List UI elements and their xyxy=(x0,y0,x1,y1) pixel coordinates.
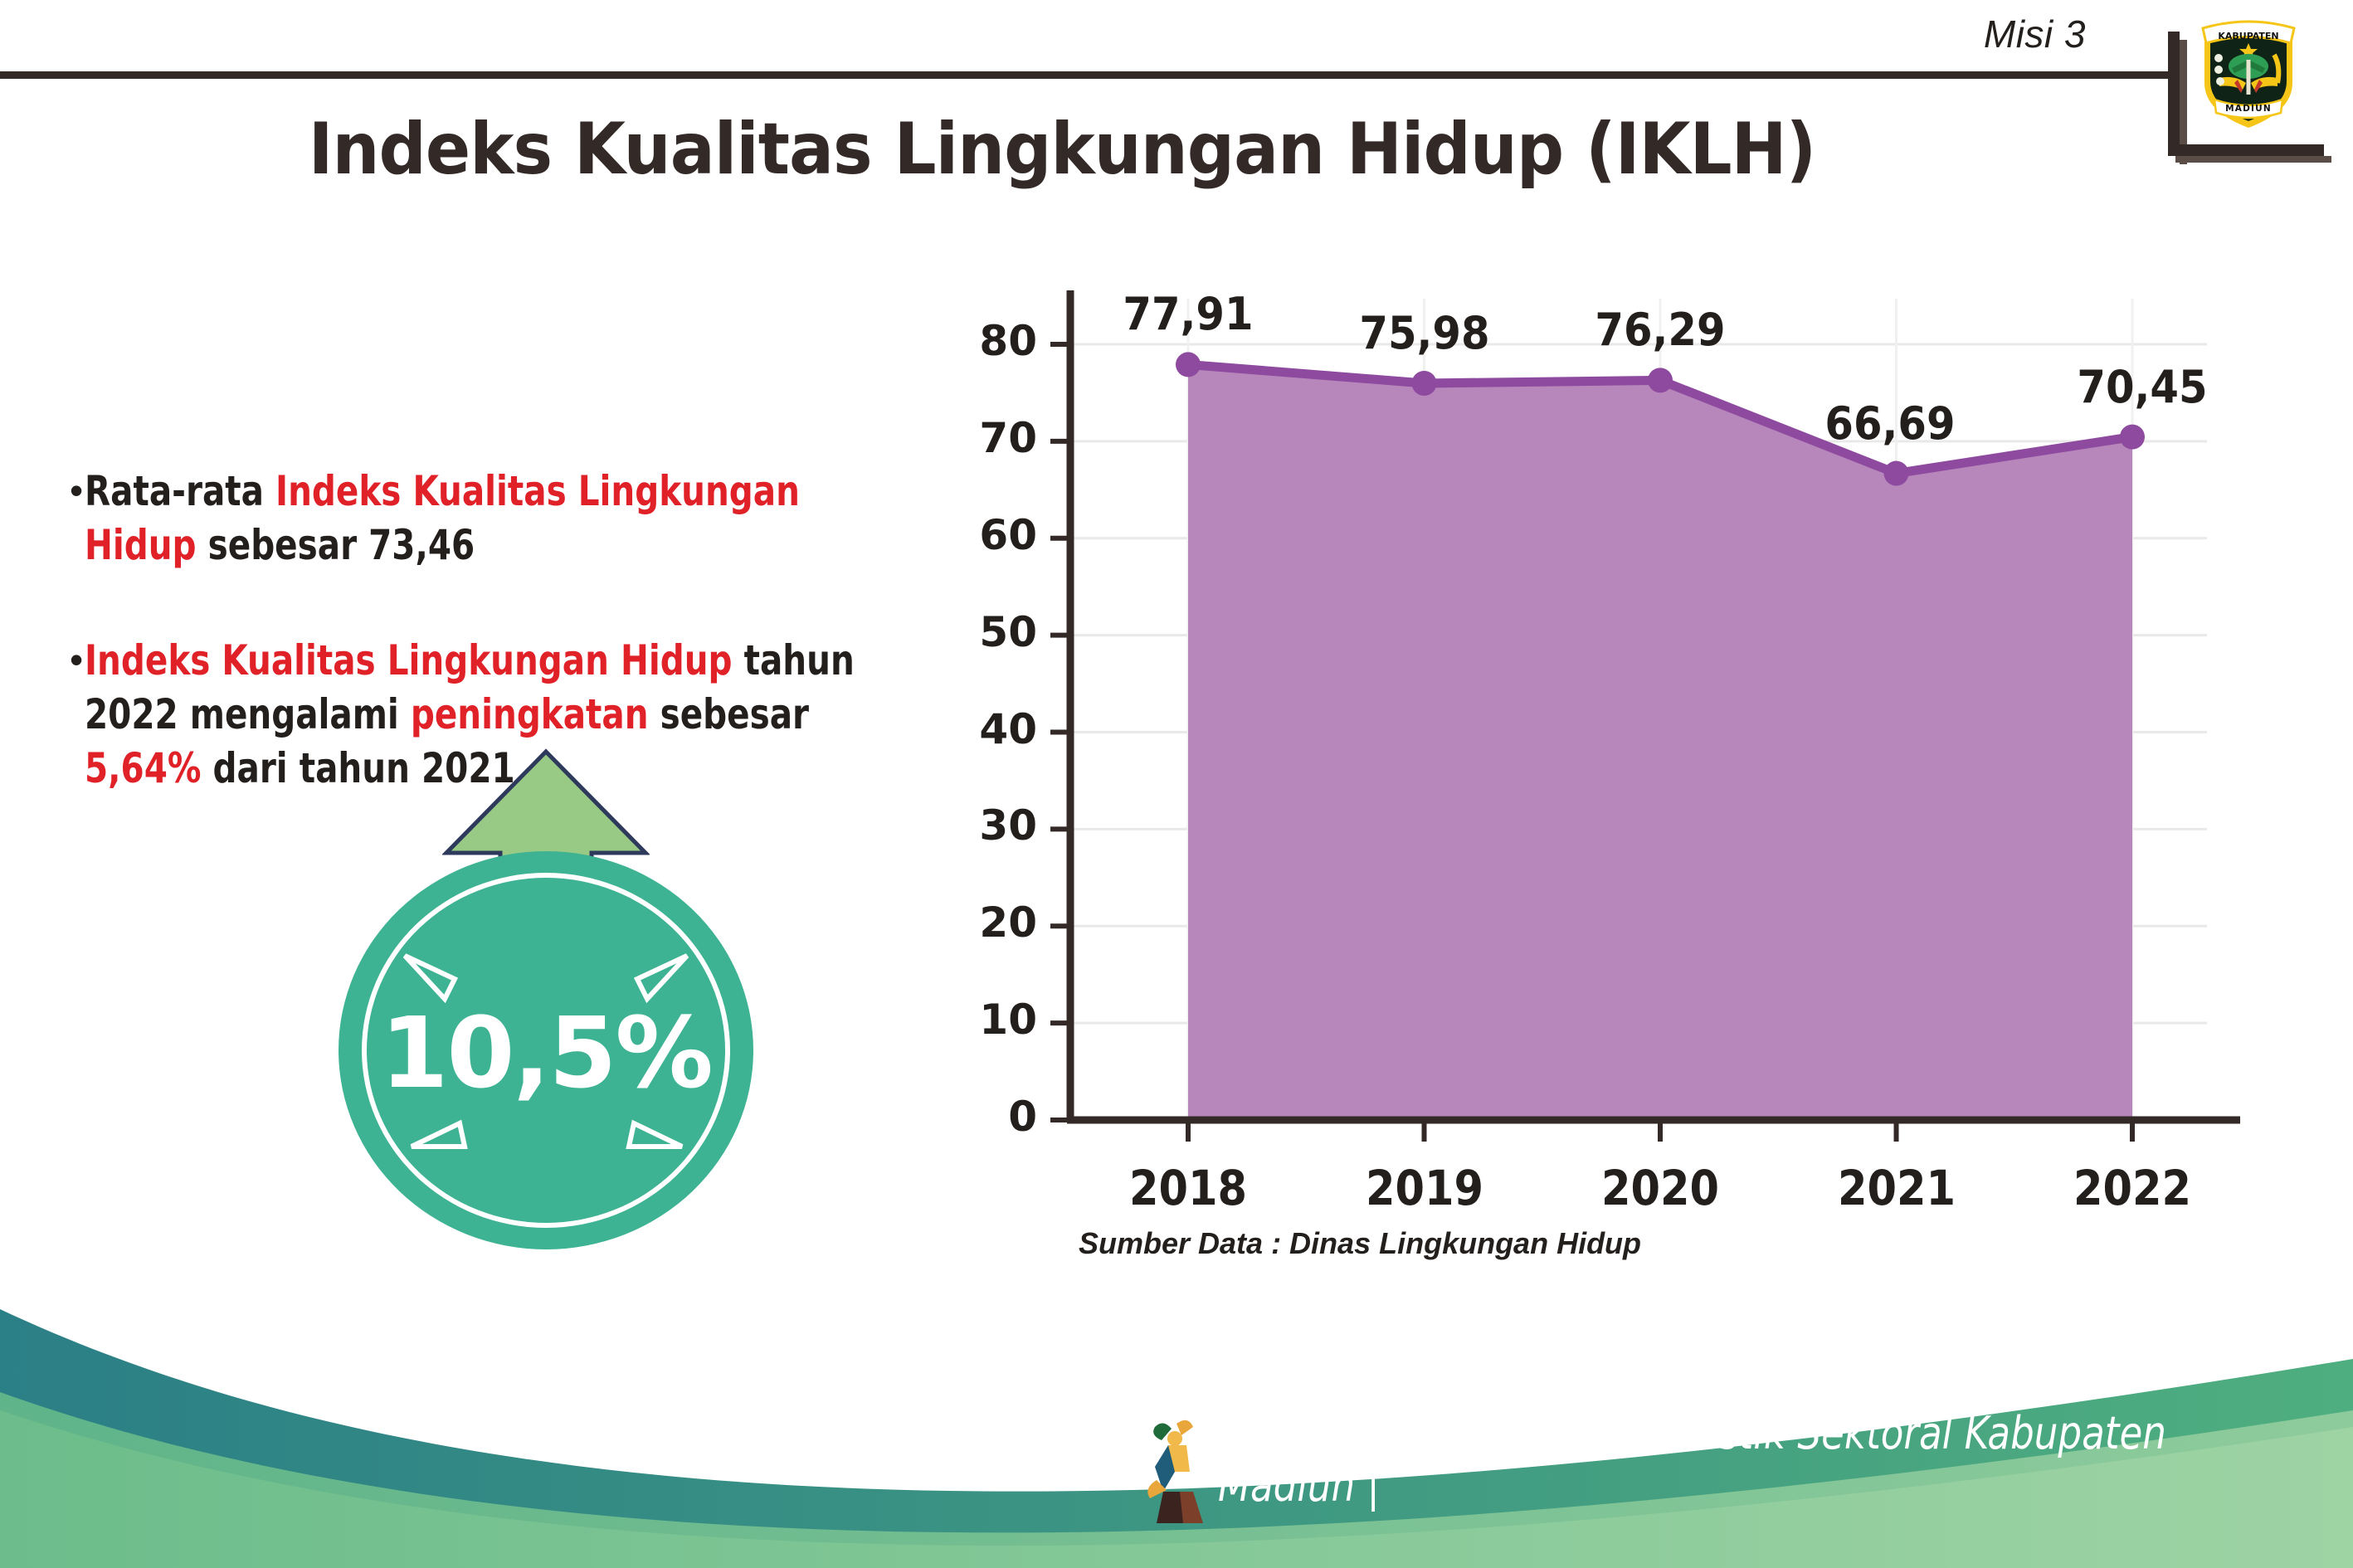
chart-data-label: 77,91 xyxy=(1097,288,1280,340)
svg-text:KABUPATEN: KABUPATEN xyxy=(2218,31,2278,41)
bracket-horizontal-bar xyxy=(2168,144,2324,156)
bullet-plain: sebesar xyxy=(649,690,809,738)
bullet-marker-icon: • xyxy=(70,634,83,685)
x-axis-label: 2021 xyxy=(1801,1160,1991,1216)
y-axis-label: 60 xyxy=(946,511,1037,559)
bullet-highlight: Indeks Kualitas Lingkungan Hidup xyxy=(85,636,733,684)
svg-text:MADIUN: MADIUN xyxy=(2225,104,2272,114)
header-divider-rule xyxy=(0,71,2169,79)
source-note: Sumber Data : Dinas Lingkungan Hidup xyxy=(1079,1226,1641,1261)
misi-label: Misi 3 xyxy=(1984,12,2086,56)
x-axis-label: 2018 xyxy=(1094,1160,1284,1216)
chart-data-label: 70,45 xyxy=(2051,361,2234,413)
y-axis-label: 10 xyxy=(946,996,1037,1044)
bracket-horizontal-shadow xyxy=(2175,156,2331,163)
chart-data-point xyxy=(1412,371,1437,396)
badge-value: 10,5% xyxy=(339,996,753,1110)
chart-data-label: 66,69 xyxy=(1798,397,1981,450)
list-item: •Rata-rata Indeks Kualitas Lingkungan Hi… xyxy=(70,465,991,572)
increase-badge: 10,5% xyxy=(314,747,778,1253)
x-axis-label: 2022 xyxy=(2038,1160,2228,1216)
bullet-highlight: peningkatan xyxy=(411,690,649,738)
x-axis-label: 2020 xyxy=(1566,1160,1756,1216)
chart-area-fill xyxy=(1188,364,2132,1120)
chart-data-label: 75,98 xyxy=(1332,307,1516,359)
slide-root: Misi 3 KABUPATEN MADIUN Indeks Kualitas … xyxy=(0,0,2353,1568)
chart-canvas xyxy=(962,282,2257,1211)
y-axis-label: 80 xyxy=(946,317,1037,365)
y-axis-label: 50 xyxy=(946,608,1037,656)
bracket-vertical-bar xyxy=(2168,32,2180,156)
kabupaten-madiun-emblem-icon: KABUPATEN MADIUN xyxy=(2195,7,2302,131)
iklh-area-chart: 010203040506070802018201920202021202277,… xyxy=(962,282,2257,1211)
chart-data-point xyxy=(1176,352,1201,377)
y-axis-label: 40 xyxy=(946,705,1037,753)
footer-text: Media Infografis Data Statistik Sektoral… xyxy=(1218,1407,2273,1512)
y-axis-label: 20 xyxy=(946,898,1037,947)
chart-data-point xyxy=(2120,425,2145,450)
page-title: Indeks Kualitas Lingkungan Hidup (IKLH) xyxy=(75,108,2050,191)
y-axis-label: 0 xyxy=(946,1093,1037,1141)
y-axis-label: 70 xyxy=(946,414,1037,462)
bullet-plain: Rata-rata xyxy=(85,467,275,515)
bullet-highlight: 5,64% xyxy=(85,744,201,792)
x-axis-label: 2019 xyxy=(1329,1160,1519,1216)
media-infografis-logo-icon xyxy=(1138,1412,1230,1528)
bullet-plain: sebesar 73,46 xyxy=(197,521,475,569)
chart-data-point xyxy=(1648,368,1673,392)
bullet-marker-icon: • xyxy=(70,465,83,516)
y-axis-label: 30 xyxy=(946,801,1037,850)
bullet-text: Rata-rata Indeks Kualitas Lingkungan Hid… xyxy=(85,465,900,572)
chart-data-point xyxy=(1884,461,1909,486)
chart-data-label: 76,29 xyxy=(1569,304,1752,356)
